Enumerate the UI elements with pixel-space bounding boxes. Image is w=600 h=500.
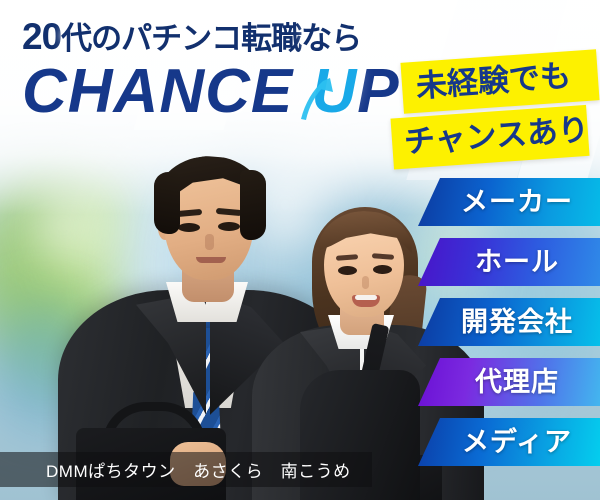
- headline-line-1-suffix: なら: [301, 21, 361, 56]
- category-list: メーカー ホール 開発会社 代理店 メディア: [418, 178, 600, 466]
- category-button-hall[interactable]: ホール: [418, 238, 600, 286]
- man-hair-side-left: [154, 172, 180, 234]
- category-label: メーカー: [445, 189, 573, 216]
- category-label: メディア: [446, 429, 572, 456]
- man-eye-right: [218, 222, 240, 231]
- logo-chance-text: CHANCE: [22, 57, 311, 126]
- logo-chance-up: CHANCE UP: [22, 61, 442, 123]
- headline-age-number: 20: [22, 16, 61, 57]
- badge-line-2: チャンスあり！: [390, 105, 589, 170]
- logo-p-letter: P: [357, 57, 399, 126]
- badge-line-1: 未経験でも: [400, 49, 599, 114]
- man-nose: [205, 234, 214, 250]
- headline-block: 20代のパチンコ転職なら CHANCE UP: [22, 18, 442, 123]
- category-button-developer[interactable]: 開発会社: [418, 298, 600, 346]
- caption-bar: DMMぱちタウン あさくら 南こうめ: [0, 452, 372, 487]
- logo-u-letter: U: [311, 61, 357, 123]
- category-label: ホール: [459, 249, 559, 276]
- category-button-media[interactable]: メディア: [418, 418, 600, 466]
- woman-eye-right: [373, 265, 392, 274]
- category-label: 代理店: [459, 369, 559, 396]
- man-mouth: [196, 257, 226, 263]
- experience-badge: 未経験でも チャンスあり！: [402, 56, 598, 162]
- woman-nose: [362, 276, 369, 289]
- woman-teeth: [355, 295, 377, 300]
- woman-eye-left: [338, 266, 357, 275]
- chance-up-banner: 20代のパチンコ転職なら CHANCE UP 未経験でも チャンスあり！ メーカ…: [0, 0, 600, 500]
- category-label: 開発会社: [445, 309, 573, 336]
- category-button-agency[interactable]: 代理店: [418, 358, 600, 406]
- headline-line-1: 20代のパチンコ転職なら: [22, 18, 442, 55]
- caption-text: DMMぱちタウン あさくら 南こうめ: [0, 457, 351, 482]
- category-button-maker[interactable]: メーカー: [418, 178, 600, 226]
- man-eye-left: [178, 223, 200, 232]
- headline-line-1-middle: 代のパチンコ転職: [61, 21, 301, 56]
